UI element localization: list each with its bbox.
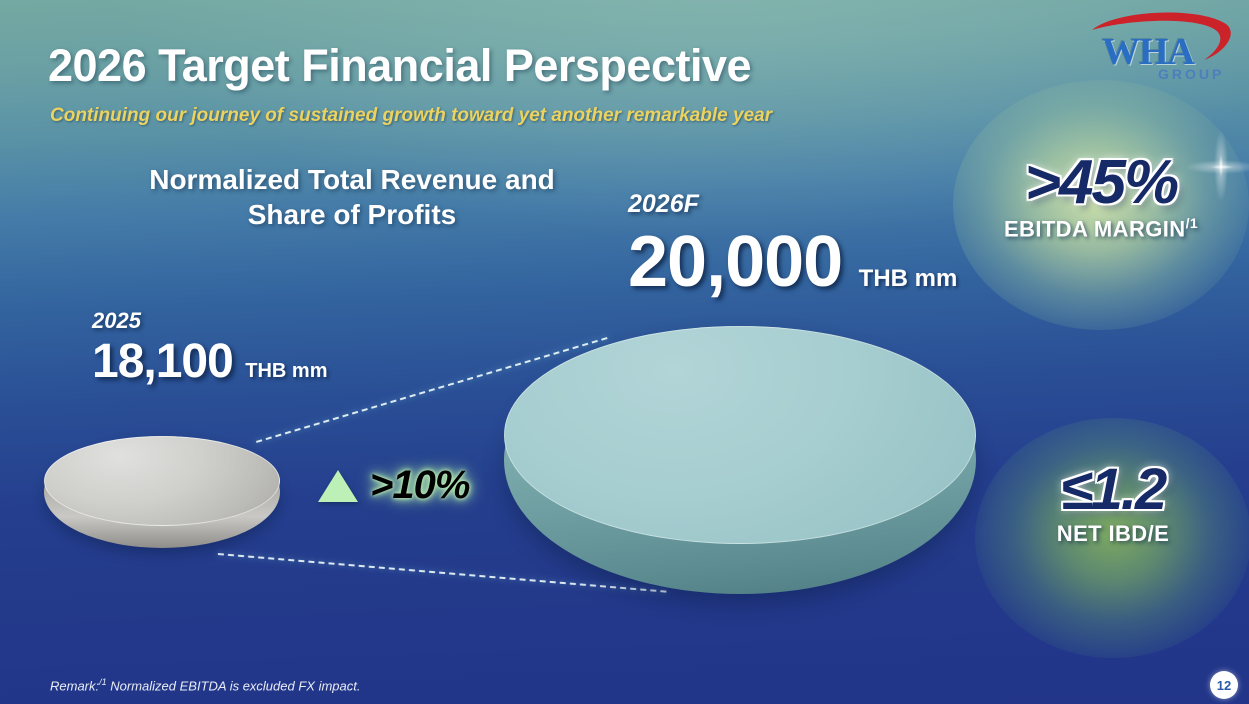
value-unit-2026: THB mm	[859, 265, 958, 292]
kpi-ebitda-label: EBITDA MARGIN/1	[953, 215, 1249, 242]
page-title: 2026 Target Financial Perspective	[48, 40, 751, 92]
kpi-ebitda-footnote: /1	[1186, 215, 1198, 231]
triangle-up-icon	[318, 470, 358, 502]
remark-prefix: Remark:	[50, 678, 99, 693]
kpi-netibde-value: ≤1.2	[975, 460, 1249, 521]
growth-percent-label: >10%	[370, 463, 469, 508]
disc-top	[44, 436, 280, 526]
bar-disc-2026	[504, 326, 976, 594]
value-label-2025: 2025 18,100 THB mm	[92, 308, 328, 389]
chart-title: Normalized Total Revenue and Share of Pr…	[130, 162, 574, 232]
remark-marker: /1	[99, 677, 107, 687]
page-subtitle: Continuing our journey of sustained grow…	[50, 105, 772, 127]
value-number-2026: 20,000	[628, 222, 842, 302]
bar-disc-2025	[44, 436, 280, 548]
year-label-2025: 2025	[92, 308, 328, 334]
value-number-2025: 18,100	[92, 335, 233, 388]
remark-text: Normalized EBITDA is excluded FX impact.	[107, 678, 361, 693]
logo-subtext: GROUP	[1158, 66, 1224, 82]
growth-callout: >10%	[318, 463, 469, 508]
disc-top	[504, 326, 976, 544]
year-label-2026: 2026F	[628, 190, 957, 219]
kpi-ebitda-margin: >45% EBITDA MARGIN/1	[953, 150, 1249, 242]
kpi-netibde-label: NET IBD/E	[975, 521, 1249, 547]
slide-canvas: WHA GROUP 2026 Target Financial Perspect…	[0, 0, 1249, 704]
remark-note: Remark:/1 Normalized EBITDA is excluded …	[50, 677, 360, 693]
kpi-ebitda-value: >45%	[953, 150, 1249, 215]
value-label-2026: 2026F 20,000 THB mm	[628, 190, 957, 303]
wha-group-logo: WHA GROUP	[1086, 8, 1241, 88]
kpi-net-ibd-e: ≤1.2 NET IBD/E	[975, 460, 1249, 547]
value-unit-2025: THB mm	[245, 360, 327, 382]
page-number-badge: 12	[1210, 671, 1238, 699]
